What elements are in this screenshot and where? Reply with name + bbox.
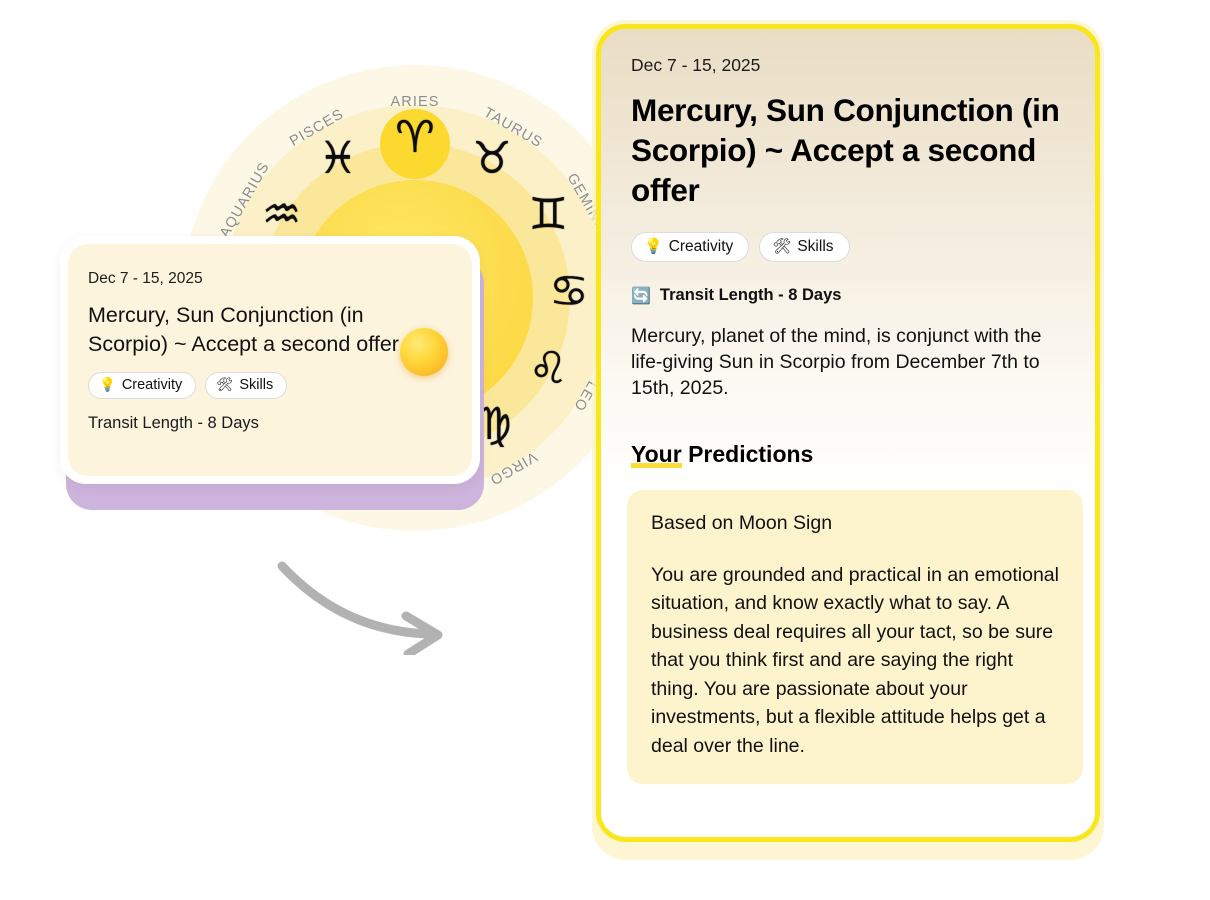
transit-card-stack[interactable]: Dec 7 - 15, 2025 Mercury, Sun Conjunctio… [60, 236, 488, 511]
zodiac-symbol-aquarius[interactable]: ♒ [254, 193, 310, 237]
predictions-heading-highlight: Your [631, 441, 682, 468]
zodiac-symbol-aries[interactable]: ♈ [387, 116, 443, 160]
zodiac-symbol-gemini[interactable]: ♊ [520, 193, 576, 237]
lightbulb-icon: 💡 [644, 239, 663, 254]
detail-date: Dec 7 - 15, 2025 [631, 55, 1065, 76]
detail-tag-list: 💡 Creativity 🛠 Skills [631, 232, 1065, 262]
tag-creativity[interactable]: 💡 Creativity [88, 372, 196, 399]
zodiac-symbol-cancer[interactable]: ♋ [541, 270, 597, 314]
detail-title: Mercury, Sun Conjunction (in Scorpio) ~ … [631, 90, 1065, 210]
detail-body-text: Mercury, planet of the mind, is conjunct… [631, 323, 1065, 401]
detail-tag-skills-label: Skills [797, 239, 833, 255]
sun-orb-icon [400, 328, 448, 376]
small-card-date: Dec 7 - 15, 2025 [88, 270, 448, 288]
tools-icon: 🛠 [772, 239, 791, 254]
small-card-title: Mercury, Sun Conjunction (in Scorpio) ~ … [88, 301, 428, 358]
zodiac-symbol-leo[interactable]: ♌ [520, 347, 576, 391]
tag-creativity-label: Creativity [122, 378, 182, 393]
refresh-arrows-icon: 🔄 [631, 286, 651, 305]
detail-tag-creativity-label: Creativity [669, 239, 734, 255]
detail-tag-skills[interactable]: 🛠 Skills [759, 232, 849, 262]
prediction-basis-label: Based on Moon Sign [651, 512, 1059, 535]
zodiac-symbol-taurus[interactable]: ♉ [464, 137, 520, 181]
zodiac-symbol-pisces[interactable]: ♓ [310, 137, 366, 181]
detail-transit-length: 🔄 Transit Length - 8 Days [631, 286, 1065, 305]
detail-tag-creativity[interactable]: 💡 Creativity [631, 232, 749, 262]
transit-summary-card[interactable]: Dec 7 - 15, 2025 Mercury, Sun Conjunctio… [60, 236, 480, 484]
tag-skills[interactable]: 🛠 Skills [205, 372, 287, 399]
curved-arrow-icon [270, 550, 460, 655]
transit-detail-panel[interactable]: Dec 7 - 15, 2025 Mercury, Sun Conjunctio… [596, 24, 1100, 842]
lightbulb-icon: 💡 [99, 379, 116, 393]
small-card-transit-length: Transit Length - 8 Days [88, 414, 448, 433]
predictions-heading: Your Predictions [631, 441, 813, 468]
tag-skills-label: Skills [239, 378, 273, 393]
prediction-card: Based on Moon Sign You are grounded and … [627, 490, 1083, 785]
tools-icon: 🛠 [216, 379, 233, 393]
detail-transit-label: Transit Length - 8 Days [660, 286, 842, 305]
app-screenshot: ♈ARIES♉TAURUS♊GEMINI♋CANCER♌LEO♍VIRGO♎LI… [0, 0, 1210, 900]
zodiac-label-aries: ARIES [390, 94, 439, 110]
small-card-tag-list: 💡 Creativity 🛠 Skills [88, 372, 448, 399]
predictions-heading-rest: Predictions [682, 441, 814, 467]
prediction-body-text: You are grounded and practical in an emo… [651, 561, 1059, 761]
